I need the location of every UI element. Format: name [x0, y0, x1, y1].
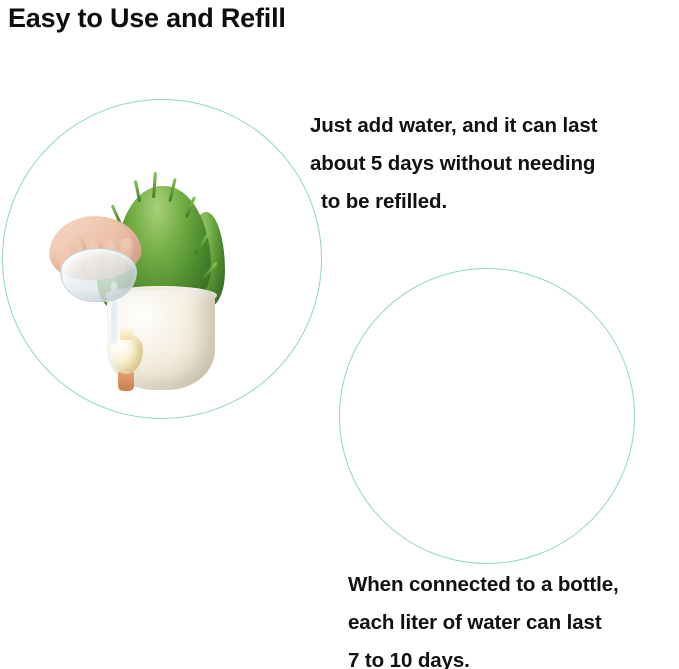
caption-top-line-1: Just add water, and it can last: [310, 107, 597, 145]
bulb-stake: [118, 371, 134, 391]
caption-bottom-line-2: each liter of water can last: [348, 604, 619, 642]
bulb-neck: [120, 328, 133, 340]
caption-bottom: When connected to a bottle, each liter o…: [348, 566, 619, 669]
caption-top: Just add water, and it can last about 5 …: [310, 107, 597, 221]
cup-rib: [61, 301, 63, 302]
caption-top-line-2: about 5 days without needing: [310, 145, 597, 183]
photo-scene-right: [340, 269, 634, 563]
caption-bottom-line-1: When connected to a bottle,: [348, 566, 619, 604]
caption-bottom-line-3: 7 to 10 days.: [348, 642, 619, 669]
water-cup: [60, 248, 137, 302]
product-photo-left: [2, 99, 322, 419]
product-infographic: Easy to Use and Refill: [0, 0, 679, 669]
photo-scene-left: [3, 100, 321, 418]
product-photo-right: [339, 268, 635, 564]
page-title: Easy to Use and Refill: [8, 1, 286, 35]
caption-top-line-3: to be refilled.: [310, 183, 597, 221]
